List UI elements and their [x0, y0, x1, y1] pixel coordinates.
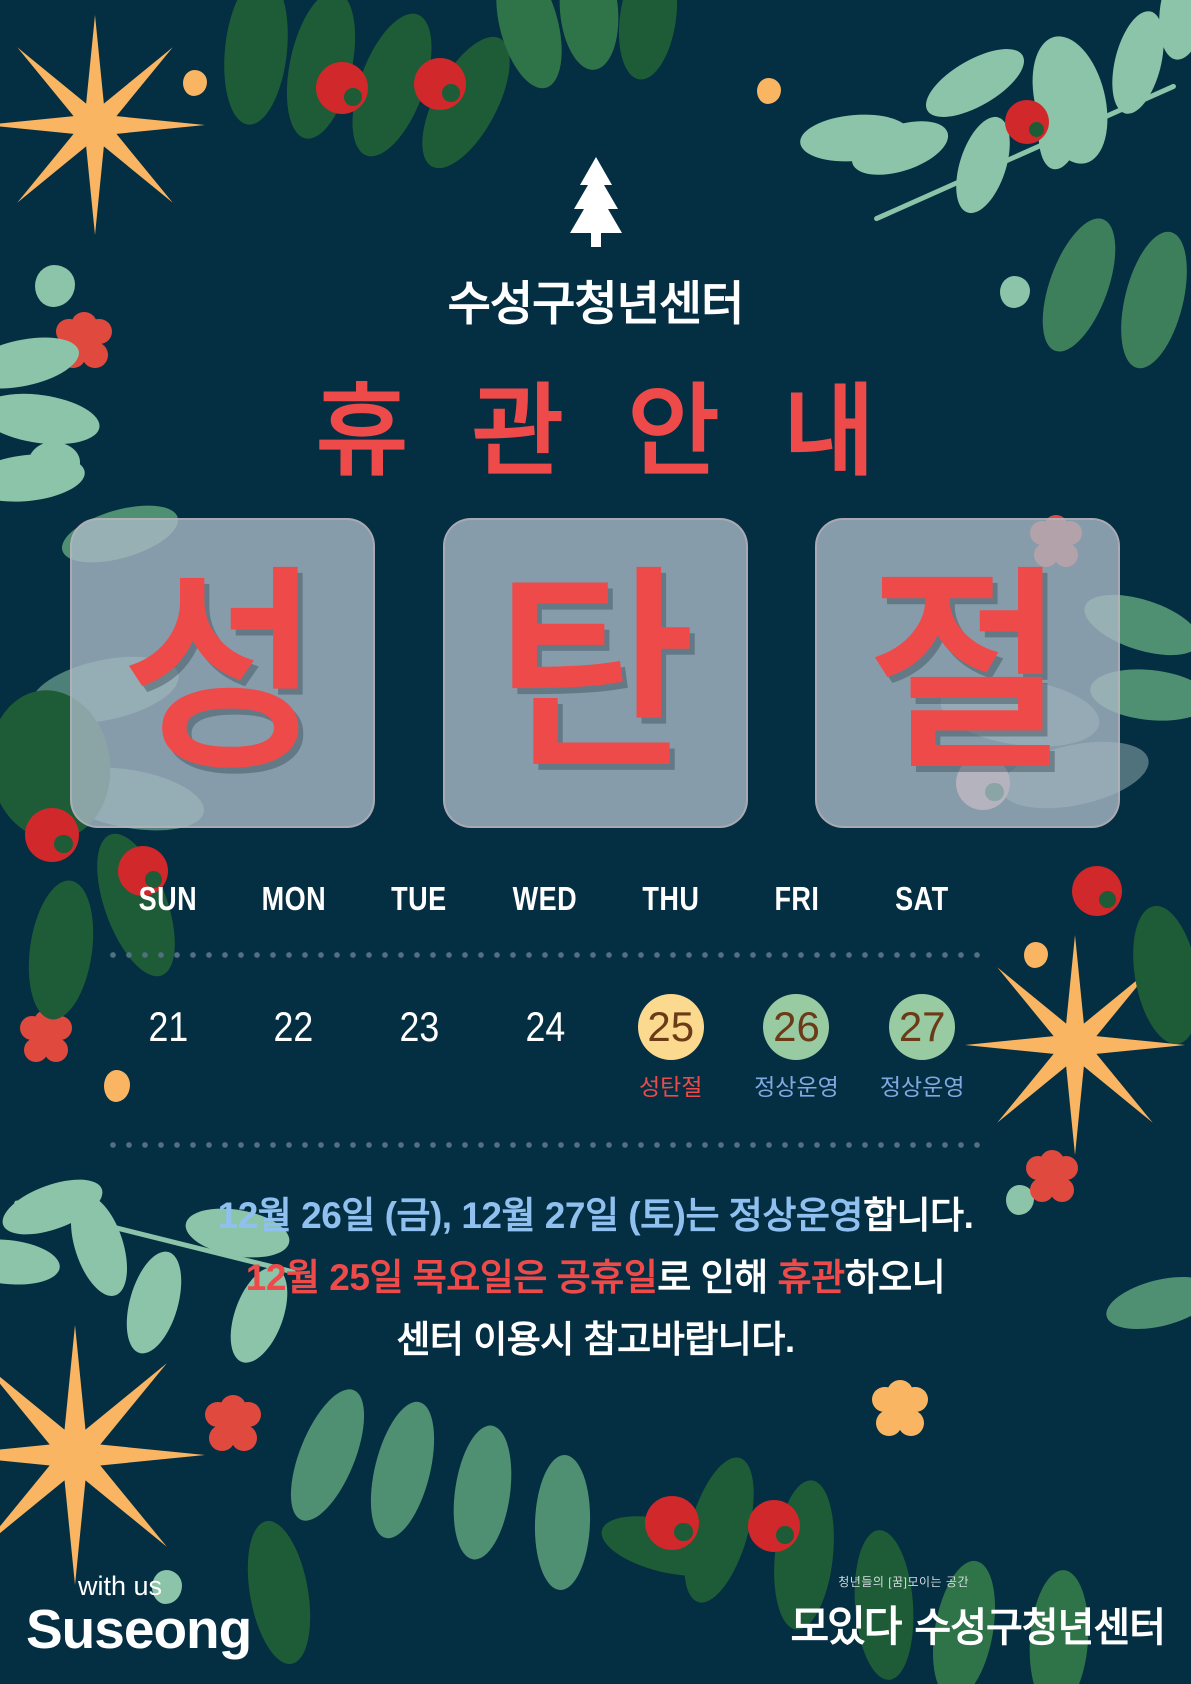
calendar-weekday-cell: WED: [482, 880, 608, 918]
youth-center-logo: 청년들의 [꿈]모이는 공간 모있다 수성구청년센터: [790, 1573, 1165, 1654]
notice-line-2: 12월 25일 목요일은 공휴일로 인해 휴관하오니: [0, 1247, 1191, 1309]
day-number: 24: [525, 994, 565, 1060]
calendar-weekday-cell: MON: [231, 880, 357, 918]
day-note: 정상운영: [859, 1068, 985, 1102]
weekday-label: WED: [493, 880, 596, 918]
notice-block: 12월 26일 (금), 12월 27일 (토)는 정상운영합니다. 12월 2…: [0, 1185, 1191, 1371]
calendar-weekday-cell: FRI: [734, 880, 860, 918]
day-number: 23: [399, 994, 439, 1060]
notice-line-3: 센터 이용시 참고바랍니다.: [0, 1309, 1191, 1371]
weekday-label: FRI: [745, 880, 848, 918]
notice-line-2-highlight-a: 12월 25일 목요일은 공휴일: [246, 1257, 658, 1298]
divider-dotted: [105, 1140, 985, 1150]
calendar-date-row: 21 22 23 24 25 성탄절: [105, 994, 985, 1102]
calendar-day-cell: 26 정상운영: [734, 994, 860, 1102]
day-note: [105, 1068, 231, 1096]
calendar-weekday-cell: SUN: [105, 880, 231, 918]
weekday-label: TUE: [368, 880, 471, 918]
day-note: 정상운영: [734, 1068, 860, 1102]
day-number: 22: [274, 994, 314, 1060]
calendar-weekday-cell: TUE: [356, 880, 482, 918]
notice-line-2-highlight-b: 휴관: [777, 1257, 844, 1298]
notice-line-1-highlight: 12월 26일 (금), 12월 27일 (토)는 정상운영: [218, 1195, 863, 1236]
notice-line-2-tail: 하오니: [845, 1257, 946, 1298]
holiday-char-card: 절: [815, 518, 1120, 828]
notice-line-1: 12월 26일 (금), 12월 27일 (토)는 정상운영합니다.: [0, 1185, 1191, 1247]
calendar: SUN MON TUE WED THU FRI SAT 21 22: [105, 880, 985, 1102]
christmas-tree-icon: [0, 155, 1191, 260]
moim-mark: 모있다: [790, 1593, 900, 1654]
day-number: 21: [148, 994, 188, 1060]
weekday-label: SUN: [116, 880, 219, 918]
holiday-char: 절: [869, 566, 1067, 781]
holiday-char-card: 탄: [443, 518, 748, 828]
calendar-day-cell: 27 정상운영: [859, 994, 985, 1102]
calendar-weekday-row: SUN MON TUE WED THU FRI SAT: [105, 880, 985, 918]
calendar-day-cell: 23: [356, 994, 482, 1102]
youth-center-name: 수성구청년센터: [914, 1595, 1165, 1653]
divider-dotted: [105, 950, 985, 960]
with-us-label: with us: [78, 1573, 251, 1600]
suseong-logo: with us Suseong: [26, 1573, 251, 1658]
holiday-word-cards: 성 탄 절: [70, 518, 1120, 828]
poster-canvas: 수성구청년센터 휴 관 안 내 성 탄 절 SUN MON TUE WED TH…: [0, 0, 1191, 1684]
day-note: [482, 1068, 608, 1096]
calendar-day-cell: 21: [105, 994, 231, 1102]
youth-center-tagline: 청년들의 [꿈]모이는 공간: [790, 1573, 969, 1590]
holiday-char: 탄: [496, 566, 694, 781]
calendar-day-cell: 22: [231, 994, 357, 1102]
day-number-badge-holiday: 25: [638, 994, 704, 1060]
holiday-char: 성: [124, 566, 322, 781]
weekday-label: MON: [242, 880, 345, 918]
notice-line-2-mid: 로 인해: [657, 1257, 777, 1298]
youth-center-logo-row: 모있다 수성구청년센터: [790, 1593, 1165, 1654]
day-number-badge-open: 26: [763, 994, 829, 1060]
day-number-badge-open: 27: [889, 994, 955, 1060]
weekday-label: SAT: [871, 880, 974, 918]
center-name: 수성구청년센터: [0, 265, 1191, 334]
calendar-day-cell: 25 성탄절: [608, 994, 734, 1102]
holiday-char-card: 성: [70, 518, 375, 828]
page-title: 휴 관 안 내: [0, 350, 1191, 495]
calendar-weekday-cell: SAT: [859, 880, 985, 918]
weekday-label: THU: [619, 880, 722, 918]
day-note: [231, 1068, 357, 1096]
calendar-day-cell: 24: [482, 994, 608, 1102]
suseong-wordmark: Suseong: [26, 1600, 251, 1658]
notice-line-1-tail: 합니다.: [863, 1195, 973, 1236]
day-note: 성탄절: [608, 1068, 734, 1102]
day-note: [356, 1068, 482, 1096]
calendar-weekday-cell: THU: [608, 880, 734, 918]
